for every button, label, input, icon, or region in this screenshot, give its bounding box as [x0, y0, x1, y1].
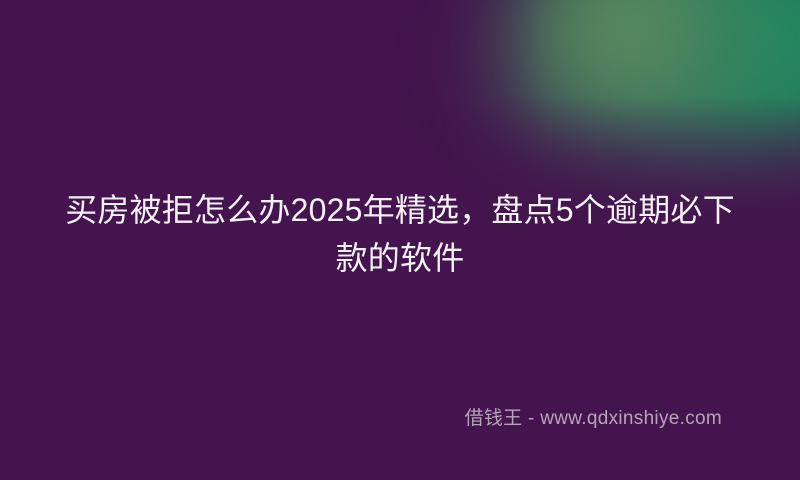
cover-image-canvas: 买房被拒怎么办2025年精选，盘点5个逾期必下款的软件 借钱王 - www.qd… — [0, 0, 800, 480]
site-watermark: 借钱王 - www.qdxinshiye.com — [465, 406, 722, 432]
page-title: 买房被拒怎么办2025年精选，盘点5个逾期必下款的软件 — [58, 186, 742, 282]
title-block: 买房被拒怎么办2025年精选，盘点5个逾期必下款的软件 — [0, 186, 800, 282]
